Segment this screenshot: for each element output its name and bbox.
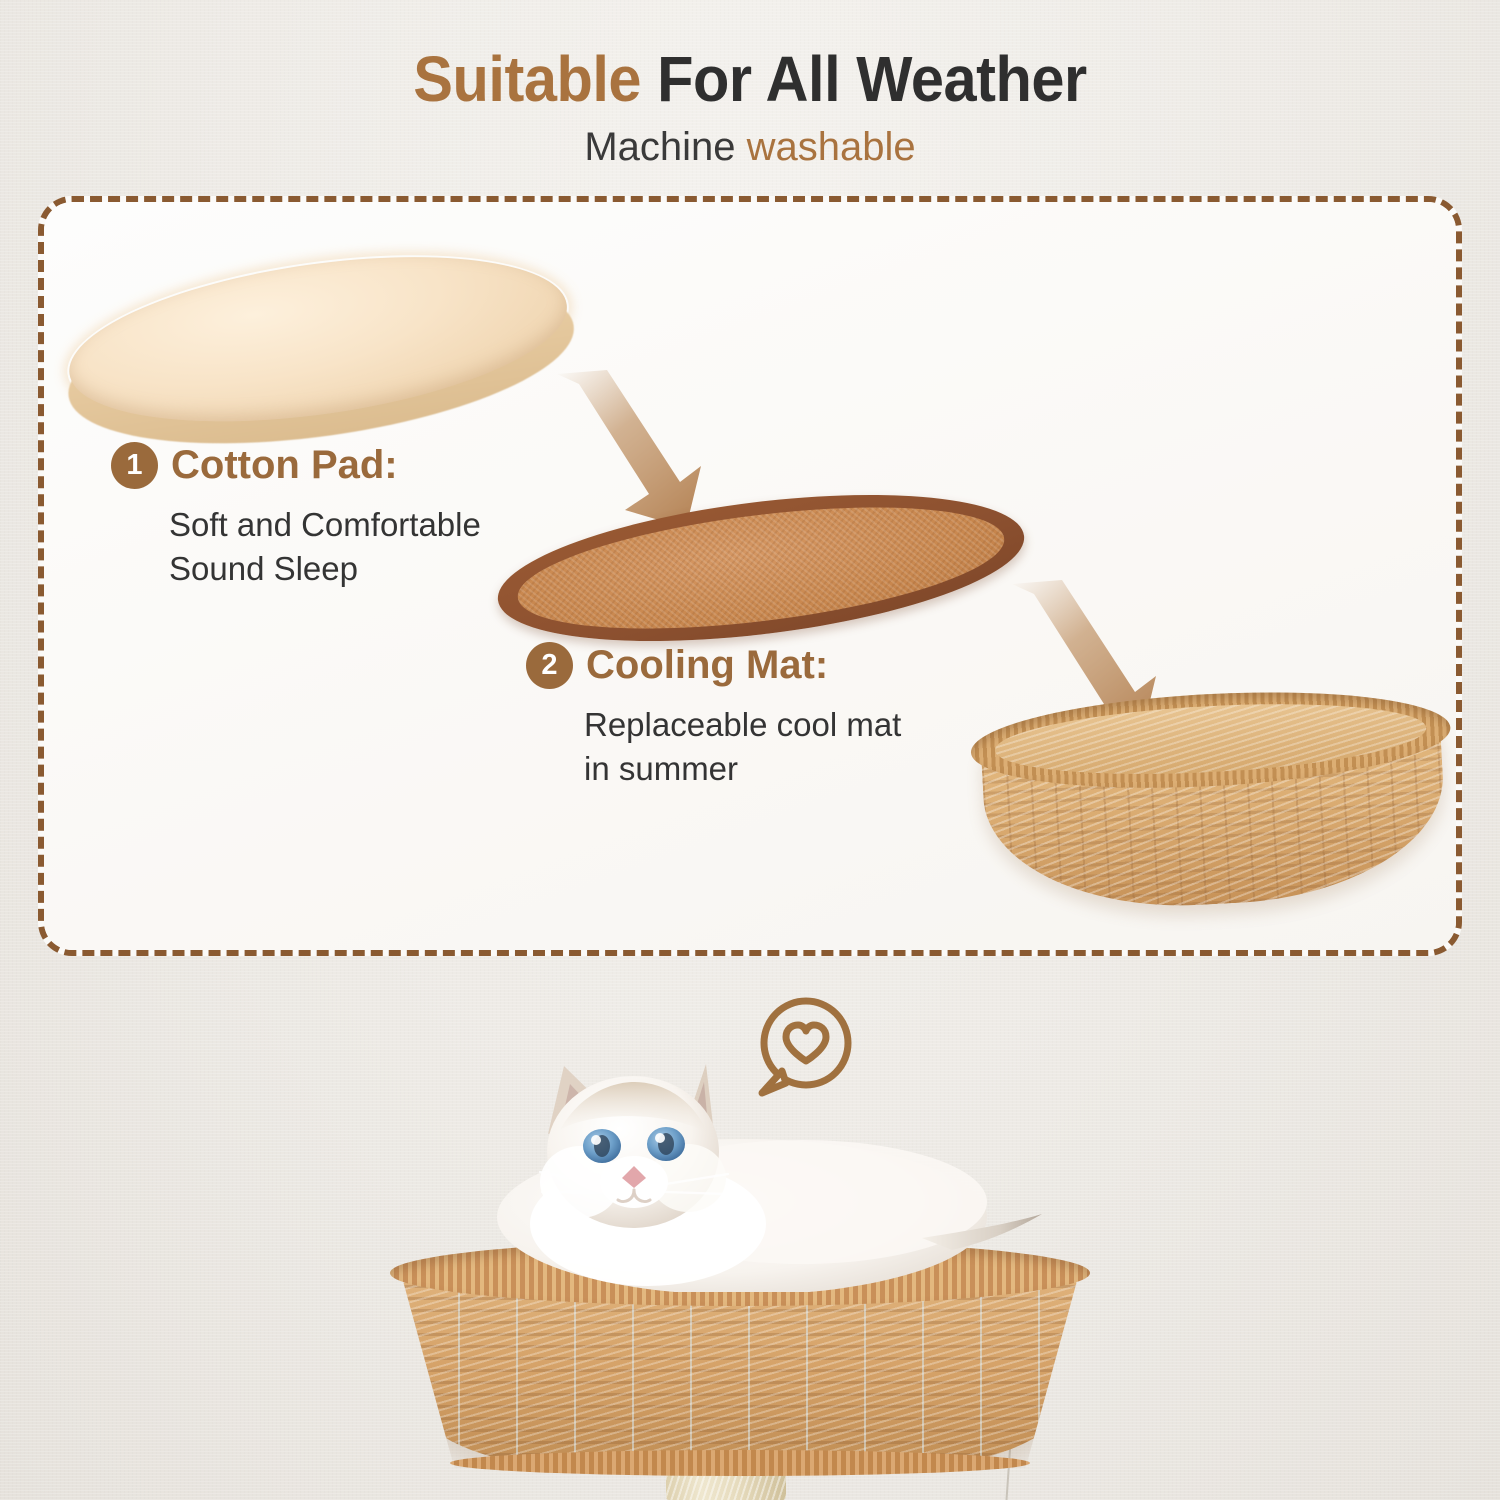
title-accent-text: Suitable [413,43,641,115]
header: Suitable For All Weather Machine washabl… [0,46,1500,169]
feature-number-badge: 1 [111,442,158,489]
heart-speech-bubble-icon [742,995,862,1103]
page-subtitle: Machine washable [0,125,1500,169]
page-title: Suitable For All Weather [53,46,1448,113]
subtitle-accent-text: washable [747,125,916,169]
woven-rattan-basket-image [969,682,1456,927]
features-panel: 1 Cotton Pad: Soft and Comfortable Sound… [38,196,1462,956]
title-rest-text: For All Weather [641,43,1087,115]
feature-heading: 2 Cooling Mat: [526,642,901,689]
features-panel-inner: 1 Cotton Pad: Soft and Comfortable Sound… [44,202,1456,950]
feature-title: Cooling Mat: [586,643,828,688]
subtitle-dark-text: Machine [584,125,746,169]
feature-description: Replaceable cool mat in summer [584,703,901,790]
feature-heading: 1 Cotton Pad: [111,442,481,489]
feature-title: Cotton Pad: [171,443,398,488]
feature-item-cooling-mat: 2 Cooling Mat: Replaceable cool mat in s… [526,642,901,790]
feature-description: Soft and Comfortable Sound Sleep [169,503,481,590]
arrow-pad-to-mat-icon [549,370,714,530]
feature-number-badge: 2 [526,642,573,689]
feature-item-cotton-pad: 1 Cotton Pad: Soft and Comfortable Sound… [111,442,481,590]
